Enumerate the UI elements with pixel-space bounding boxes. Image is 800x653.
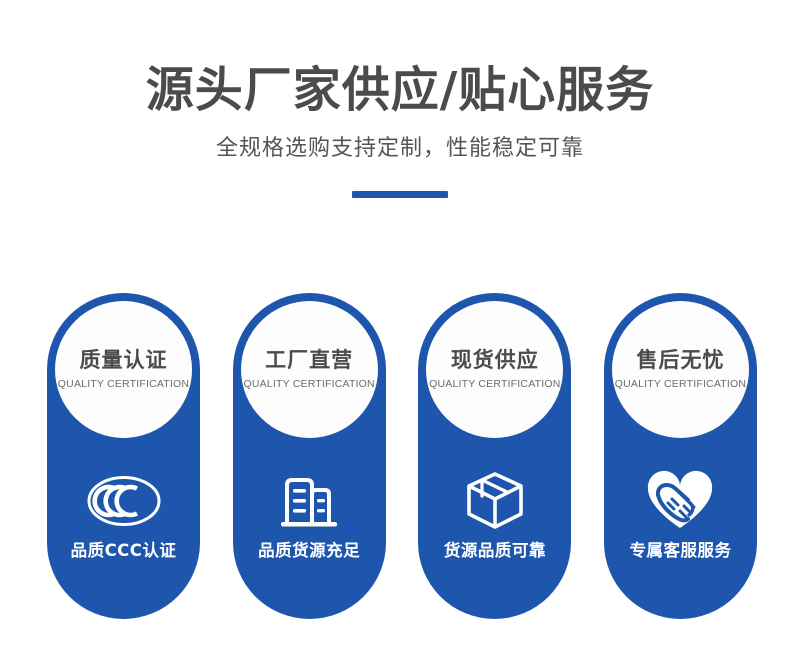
card-caption: 货源品质可靠 bbox=[418, 537, 571, 561]
handshake-heart-icon bbox=[604, 465, 757, 537]
card-caption: 专属客服服务 bbox=[604, 537, 757, 561]
card-title: 售后无忧 bbox=[636, 349, 724, 372]
card-title: 工厂直营 bbox=[265, 349, 353, 372]
ccc-certification-icon bbox=[47, 465, 200, 537]
card-header-circle: 售后无忧 QUALITY CERTIFICATION bbox=[612, 301, 749, 438]
card-header-circle: 工厂直营 QUALITY CERTIFICATION bbox=[241, 301, 378, 438]
accent-divider bbox=[352, 191, 448, 198]
card-caption: 品质货源充足 bbox=[233, 537, 386, 561]
page-subtitle: 全规格选购支持定制，性能稳定可靠 bbox=[0, 119, 800, 164]
factory-building-icon bbox=[233, 465, 386, 537]
feature-card-factory-direct[interactable]: 工厂直营 QUALITY CERTIFICATION bbox=[233, 293, 386, 619]
feature-card-after-sales[interactable]: 售后无忧 QUALITY CERTIFICATION bbox=[604, 293, 757, 619]
feature-card-list: 质量认证 QUALITY CERTIFICATION 品质CCC认证 工厂直营 … bbox=[47, 293, 757, 619]
card-subtitle: QUALITY CERTIFICATION bbox=[243, 378, 374, 390]
card-header-circle: 质量认证 QUALITY CERTIFICATION bbox=[55, 301, 192, 438]
card-title: 现货供应 bbox=[451, 349, 539, 372]
card-subtitle: QUALITY CERTIFICATION bbox=[615, 378, 746, 390]
card-subtitle: QUALITY CERTIFICATION bbox=[58, 378, 189, 390]
page-title: 源头厂家供应/贴心服务 bbox=[0, 0, 800, 119]
banner-header: 源头厂家供应/贴心服务 全规格选购支持定制，性能稳定可靠 bbox=[0, 0, 800, 198]
card-caption: 品质CCC认证 bbox=[47, 537, 200, 561]
feature-card-quality-certification[interactable]: 质量认证 QUALITY CERTIFICATION 品质CCC认证 bbox=[47, 293, 200, 619]
package-box-icon bbox=[418, 465, 571, 537]
feature-card-in-stock-supply[interactable]: 现货供应 QUALITY CERTIFICATION 货源品质可靠 bbox=[418, 293, 571, 619]
promo-banner: 源头厂家供应/贴心服务 全规格选购支持定制，性能稳定可靠 质量认证 QUALIT… bbox=[0, 0, 800, 653]
card-title: 质量认证 bbox=[80, 349, 168, 372]
card-header-circle: 现货供应 QUALITY CERTIFICATION bbox=[426, 301, 563, 438]
card-subtitle: QUALITY CERTIFICATION bbox=[429, 378, 560, 390]
